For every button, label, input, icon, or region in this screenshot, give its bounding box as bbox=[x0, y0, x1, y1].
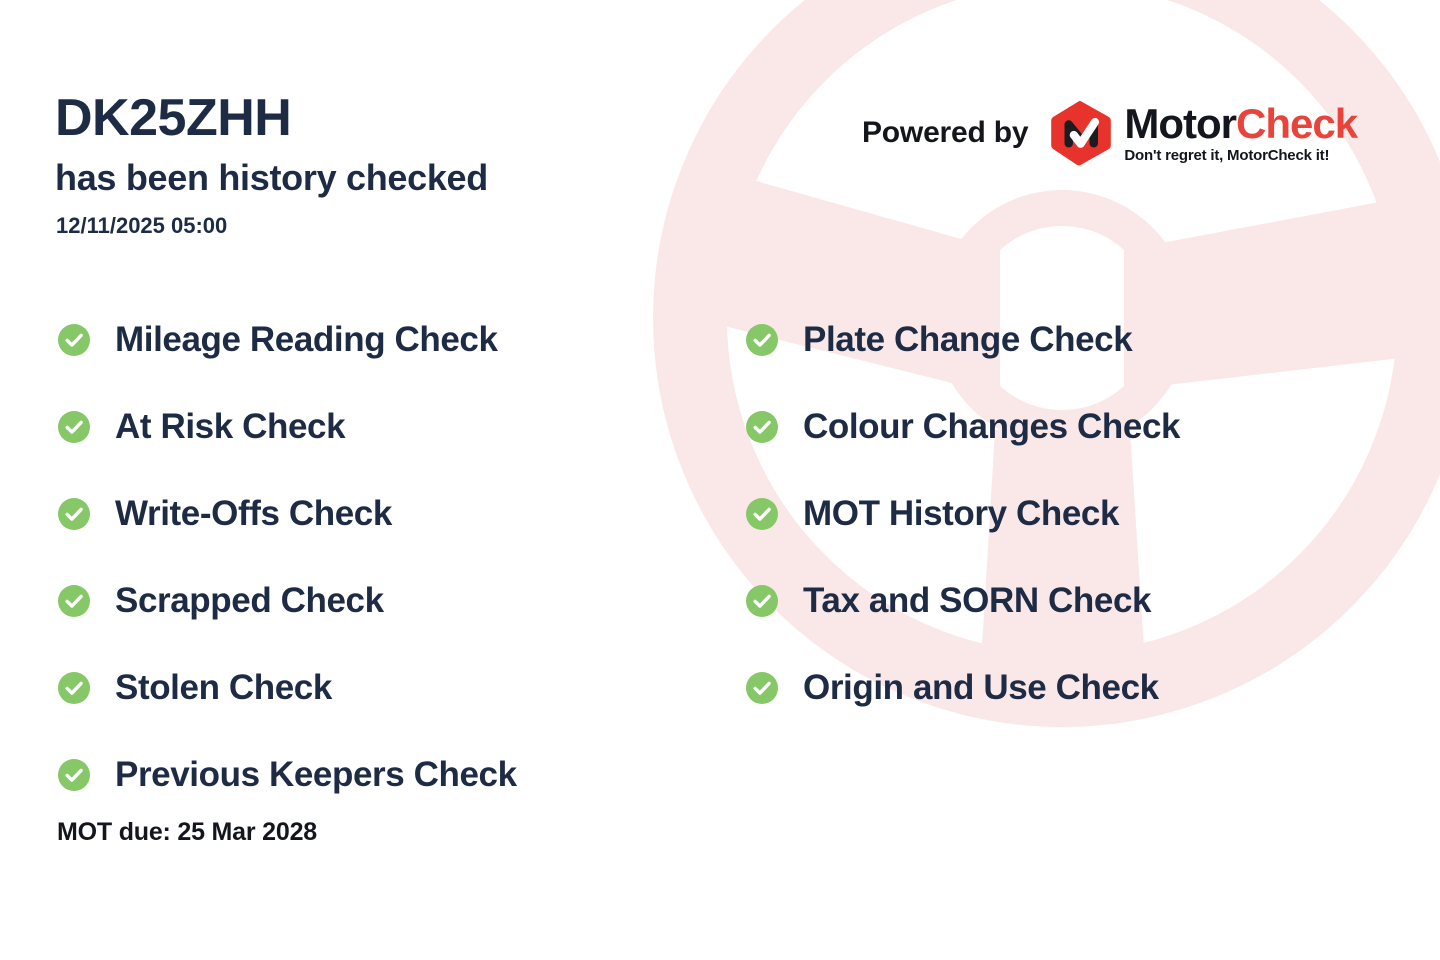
list-item: Previous Keepers Check bbox=[58, 731, 517, 818]
check-circle-icon bbox=[58, 411, 90, 443]
motorcheck-wordmark: MotorCheck bbox=[1124, 103, 1357, 145]
list-item-label: Stolen Check bbox=[115, 670, 332, 705]
check-timestamp: 12/11/2025 05:00 bbox=[56, 215, 227, 237]
list-item-label: Scrapped Check bbox=[115, 583, 384, 618]
list-item-label: Plate Change Check bbox=[803, 322, 1132, 357]
powered-by-label: Powered by bbox=[862, 116, 1028, 150]
list-item: Write-Offs Check bbox=[58, 470, 517, 557]
check-circle-icon bbox=[58, 672, 90, 704]
wordmark-check: Check bbox=[1236, 100, 1357, 147]
check-circle-icon bbox=[58, 498, 90, 530]
list-item-label: Colour Changes Check bbox=[803, 409, 1180, 444]
check-circle-icon bbox=[746, 672, 778, 704]
check-circle-icon bbox=[58, 324, 90, 356]
list-item: At Risk Check bbox=[58, 383, 517, 470]
powered-by-block: Powered by MotorCheck Don't regret it, M… bbox=[862, 100, 1357, 166]
list-item-label: MOT History Check bbox=[803, 496, 1119, 531]
list-item: Tax and SORN Check bbox=[746, 557, 1180, 644]
check-circle-icon bbox=[58, 759, 90, 791]
list-item: Scrapped Check bbox=[58, 557, 517, 644]
check-circle-icon bbox=[746, 498, 778, 530]
mot-due-label: MOT due: 25 Mar 2028 bbox=[57, 818, 317, 847]
motorcheck-logo[interactable]: MotorCheck Don't regret it, MotorCheck i… bbox=[1050, 100, 1357, 166]
list-item: MOT History Check bbox=[746, 470, 1180, 557]
page-title: has been history checked bbox=[55, 160, 488, 196]
list-item-label: Previous Keepers Check bbox=[115, 757, 517, 792]
registration-plate: DK25ZHH bbox=[55, 92, 291, 144]
wordmark-motor: Motor bbox=[1124, 100, 1236, 147]
brand-tagline: Don't regret it, MotorCheck it! bbox=[1124, 148, 1357, 163]
checklist-right-column: Plate Change Check Colour Changes Check … bbox=[746, 296, 1180, 731]
share-card: DK25ZHH has been history checked 12/11/2… bbox=[0, 0, 1440, 960]
list-item-label: Mileage Reading Check bbox=[115, 322, 498, 357]
list-item: Plate Change Check bbox=[746, 296, 1180, 383]
check-circle-icon bbox=[58, 585, 90, 617]
list-item-label: At Risk Check bbox=[115, 409, 345, 444]
list-item-label: Origin and Use Check bbox=[803, 670, 1159, 705]
list-item-label: Write-Offs Check bbox=[115, 496, 392, 531]
list-item: Mileage Reading Check bbox=[58, 296, 517, 383]
check-circle-icon bbox=[746, 411, 778, 443]
list-item: Origin and Use Check bbox=[746, 644, 1180, 731]
check-circle-icon bbox=[746, 585, 778, 617]
check-circle-icon bbox=[746, 324, 778, 356]
list-item: Colour Changes Check bbox=[746, 383, 1180, 470]
list-item-label: Tax and SORN Check bbox=[803, 583, 1151, 618]
motorcheck-hexagon-icon bbox=[1050, 100, 1112, 166]
list-item: Stolen Check bbox=[58, 644, 517, 731]
checklist-left-column: Mileage Reading Check At Risk Check Writ… bbox=[58, 296, 517, 818]
